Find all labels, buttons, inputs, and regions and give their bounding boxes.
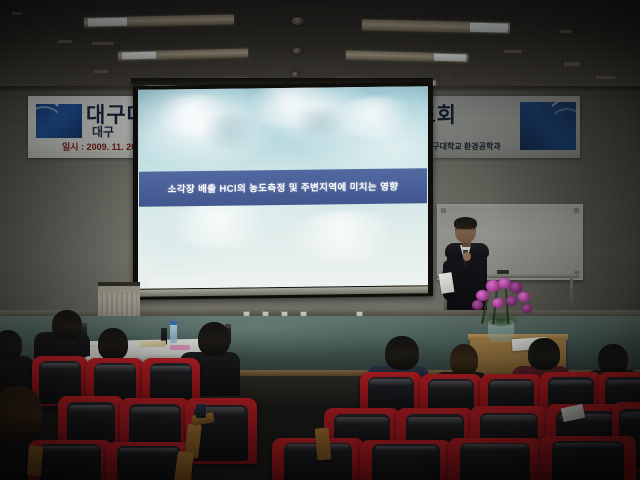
screen-surface: 소각장 배출 HCl의 농도측정 및 주변지역에 미치는 영향 [138, 86, 428, 289]
mobile-phone [196, 404, 206, 418]
auditorium-seat [448, 438, 542, 480]
ceiling-vent [92, 42, 114, 45]
auditorium-seat [360, 440, 452, 480]
seat-armrest [27, 445, 44, 476]
daegu-university-logo-icon [520, 102, 576, 150]
ceiling-vent [94, 70, 108, 73]
daegu-university-logo-icon [36, 104, 82, 138]
presenter-hair [454, 217, 477, 229]
projection-screen: 소각장 배출 HCl의 농도측정 및 주변지역에 미치는 영향 [133, 82, 433, 300]
seat-armrest [315, 427, 332, 460]
slide-title-bar: 소각장 배출 HCl의 농도측정 및 주변지역에 미치는 영향 [139, 168, 427, 207]
ceiling-vent [504, 50, 522, 53]
ceiling-speaker-icon [292, 48, 303, 54]
slide-title: 소각장 배출 HCl의 농도측정 및 주변지역에 미치는 영향 [168, 179, 399, 196]
ceiling-vent [596, 76, 616, 79]
orchid-bloom [510, 282, 522, 293]
ceiling-vent [564, 62, 580, 66]
ceiling-vent [58, 40, 72, 43]
banner-subtitle: 대구 [92, 123, 114, 140]
ceiling-speaker-icon [291, 72, 300, 77]
ceiling-vent [12, 12, 22, 15]
auditorium-seat [540, 436, 636, 480]
ceiling-speaker-icon [291, 17, 305, 25]
presenter-hand [463, 252, 471, 261]
audience-area [0, 300, 640, 480]
lecture-hall-photo: 대구대 대구 일시 : 2009. 11. 20(금) 발표회 발표회 : 대구… [0, 0, 640, 480]
ceiling-vent [560, 30, 572, 33]
